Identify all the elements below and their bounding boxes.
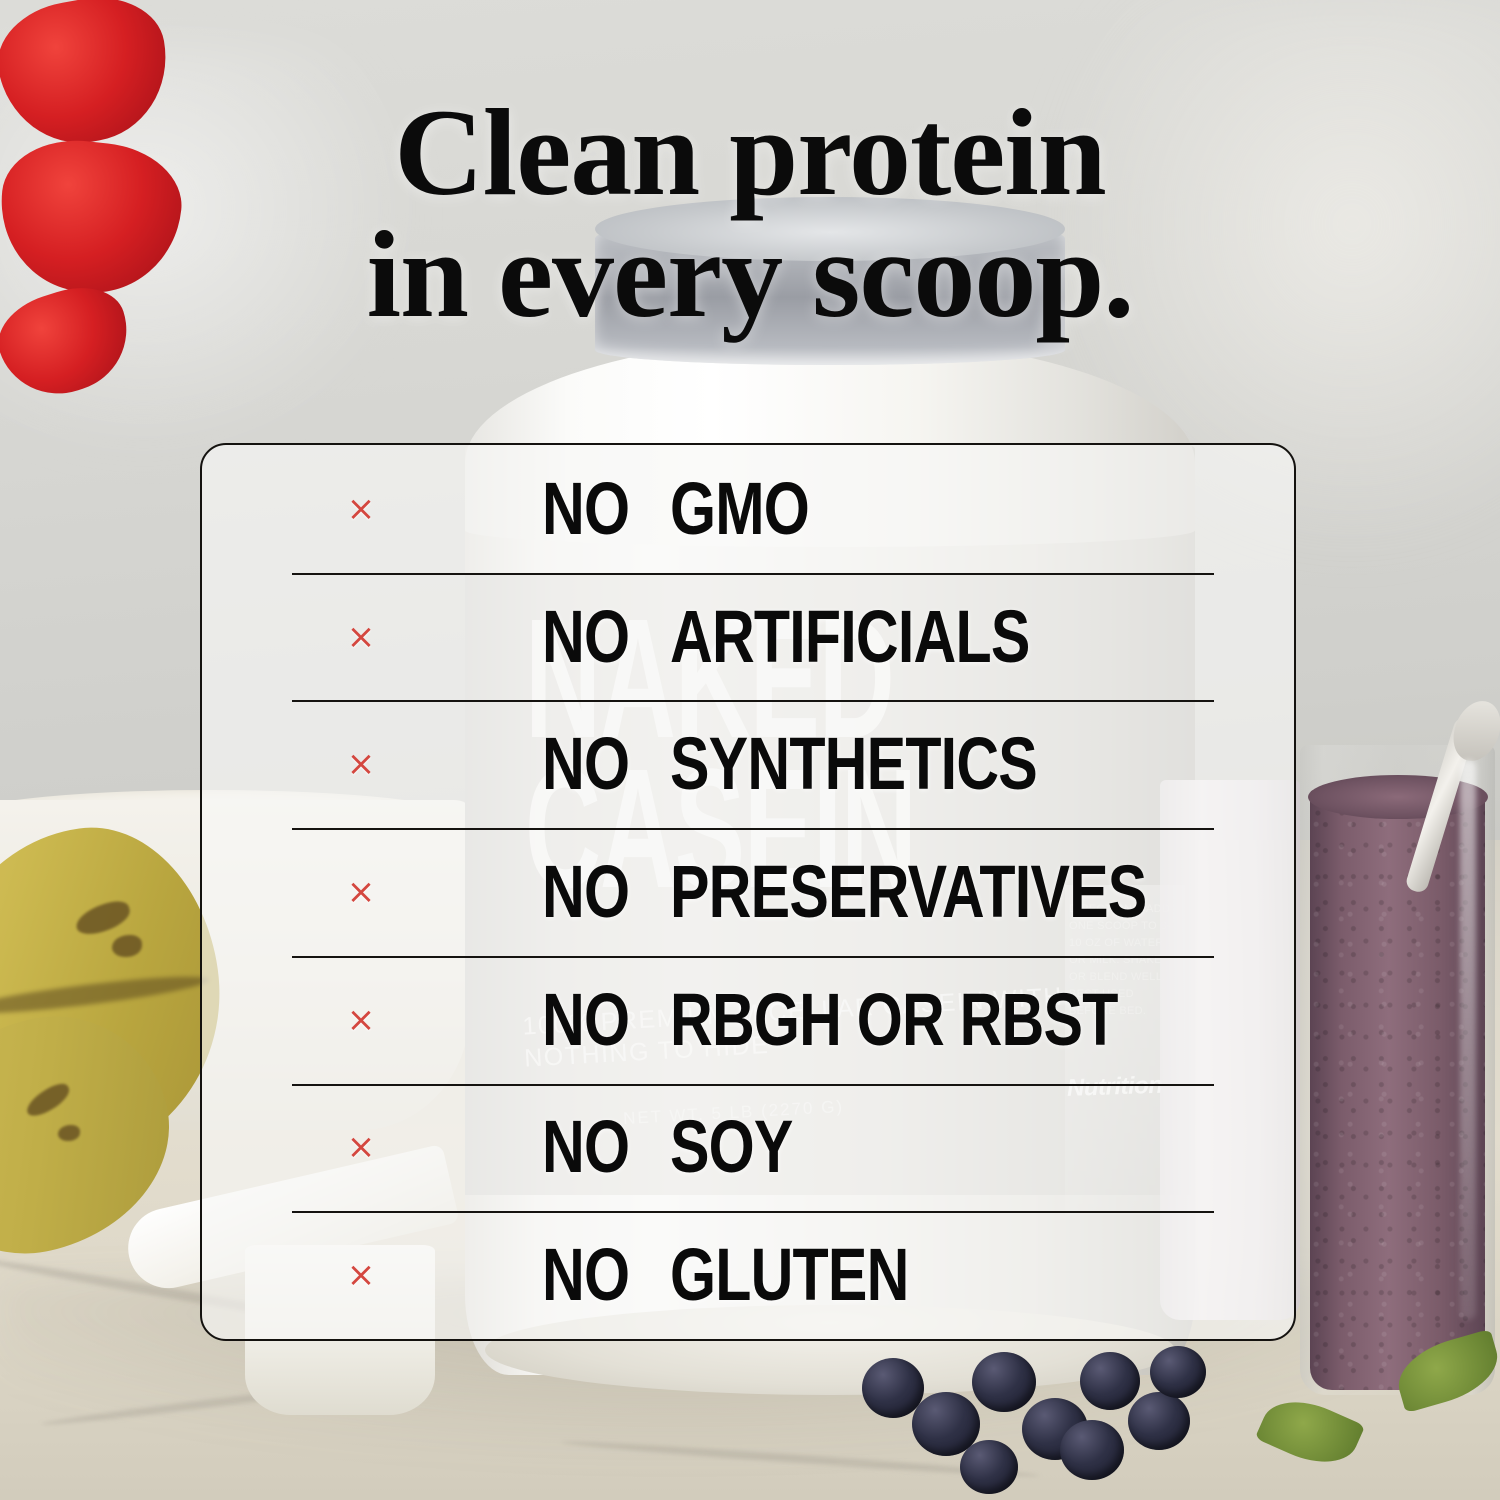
claim-prefix: NO — [542, 855, 644, 929]
blueberry — [972, 1352, 1036, 1412]
claim-label: GMO — [670, 472, 809, 546]
list-item: × NO PRESERVATIVES — [202, 828, 1294, 956]
claim-prefix: NO — [542, 600, 644, 674]
claims-card: × NO GMO × NO ARTIFICIALS × NO SYNTHETIC… — [200, 443, 1296, 1341]
list-item: × NO SOY — [202, 1084, 1294, 1212]
list-item: × NO GLUTEN — [202, 1211, 1294, 1339]
claims-list: × NO GMO × NO ARTIFICIALS × NO SYNTHETIC… — [202, 445, 1294, 1339]
list-item: × NO RBGH OR RBST — [202, 956, 1294, 1084]
cross-icon: × — [322, 492, 400, 526]
cross-icon: × — [322, 1130, 400, 1164]
cross-icon: × — [322, 875, 400, 909]
promo-graphic: NAKED CASEIN 100% PREMIUM MICELLAR CASEI… — [0, 0, 1500, 1500]
cross-icon: × — [322, 620, 400, 654]
blueberry — [1080, 1352, 1140, 1410]
claim-label: SYNTHETICS — [670, 727, 1037, 801]
headline-line-1: Clean protein — [394, 84, 1106, 221]
blueberry — [1060, 1420, 1124, 1480]
blueberry — [960, 1440, 1018, 1494]
list-item: × NO SYNTHETICS — [202, 700, 1294, 828]
list-item: × NO GMO — [202, 445, 1294, 573]
blueberry — [1150, 1346, 1206, 1398]
claim-label: SOY — [670, 1110, 793, 1184]
list-item: × NO ARTIFICIALS — [202, 573, 1294, 701]
claim-prefix: NO — [542, 727, 644, 801]
claim-prefix: NO — [542, 1110, 644, 1184]
headline-line-2: in every scoop. — [0, 214, 1500, 336]
claim-label: RBGH OR RBST — [670, 983, 1118, 1057]
claim-label: PRESERVATIVES — [670, 855, 1147, 929]
cross-icon: × — [322, 747, 400, 781]
claim-label: GLUTEN — [670, 1238, 909, 1312]
page-title: Clean protein in every scoop. — [0, 92, 1500, 335]
blueberry — [1128, 1392, 1190, 1450]
claim-prefix: NO — [542, 1238, 644, 1312]
cross-icon: × — [322, 1258, 400, 1292]
smoothie-texture — [1310, 790, 1485, 1390]
glass-highlight — [1460, 760, 1476, 1320]
claim-prefix: NO — [542, 983, 644, 1057]
claim-label: ARTIFICIALS — [670, 600, 1030, 674]
claim-prefix: NO — [542, 472, 644, 546]
cross-icon: × — [322, 1003, 400, 1037]
